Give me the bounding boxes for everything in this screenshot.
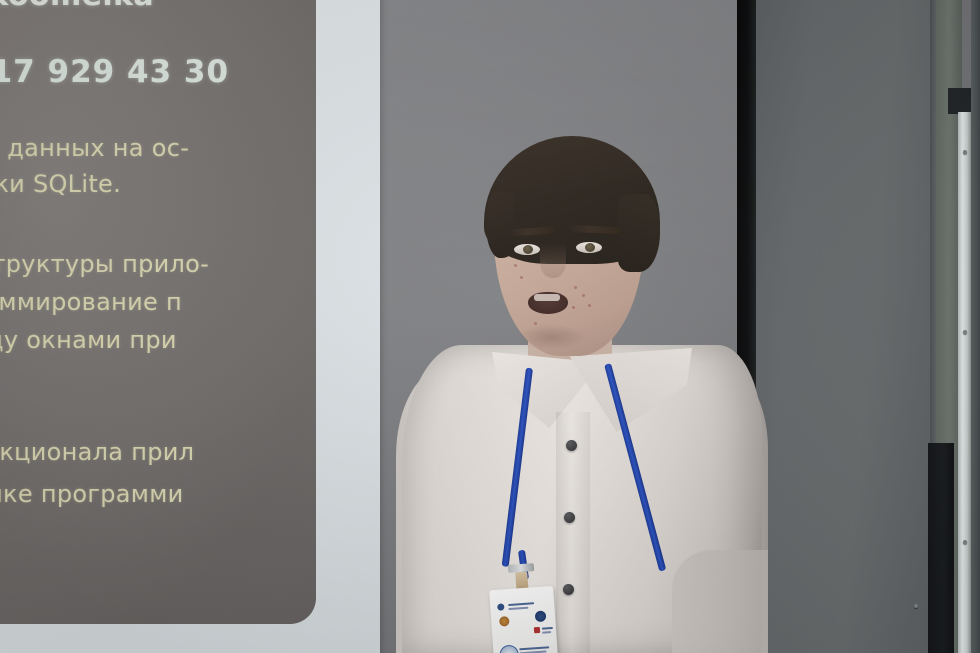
projection-screen: @koomelka 917 929 43 30 азы данных на ос…	[0, 0, 380, 653]
mouth-open	[528, 292, 568, 314]
screw-icon	[914, 604, 918, 608]
hair-side-left	[486, 192, 514, 258]
screw-icon	[963, 540, 967, 544]
slide-line-3: структуры прило-	[0, 250, 209, 278]
chin-shadow	[516, 324, 586, 350]
slide-line-5: ежду окнами при	[0, 326, 177, 354]
projected-slide: @koomelka 917 929 43 30 азы данных на ос…	[0, 0, 316, 624]
hair-side-right	[618, 194, 660, 272]
head	[476, 136, 666, 366]
presenter	[380, 120, 780, 653]
slide-line-phone: 917 929 43 30	[0, 54, 229, 90]
photo-scene: @koomelka 917 929 43 30 азы данных на ос…	[0, 0, 980, 653]
door-recess	[928, 443, 954, 653]
slide-line-handle: @koomelka	[0, 0, 154, 13]
slide-line-7: языке программи	[0, 480, 184, 508]
wall-pillar	[756, 0, 936, 653]
eye-left	[514, 244, 540, 255]
screw-icon	[963, 330, 967, 334]
slide-line-6: функционала прил	[0, 438, 194, 466]
conference-badge	[489, 586, 559, 653]
arm-fold-shadow	[672, 550, 768, 653]
eye-right	[576, 242, 602, 253]
nose	[540, 244, 566, 278]
whiteboard-edge-strip	[958, 112, 971, 653]
slide-text-block: @koomelka 917 929 43 30 азы данных на ос…	[0, 0, 314, 594]
shirt-button	[566, 440, 577, 451]
slide-line-1: азы данных на ос-	[0, 134, 189, 162]
screw-icon	[963, 150, 967, 154]
shirt-button	[564, 512, 575, 523]
slide-line-4: ограммирование п	[0, 288, 182, 316]
far-right-wall	[971, 0, 980, 653]
shirt-button	[563, 584, 574, 595]
slide-line-2: отеки SQLite.	[0, 170, 121, 198]
